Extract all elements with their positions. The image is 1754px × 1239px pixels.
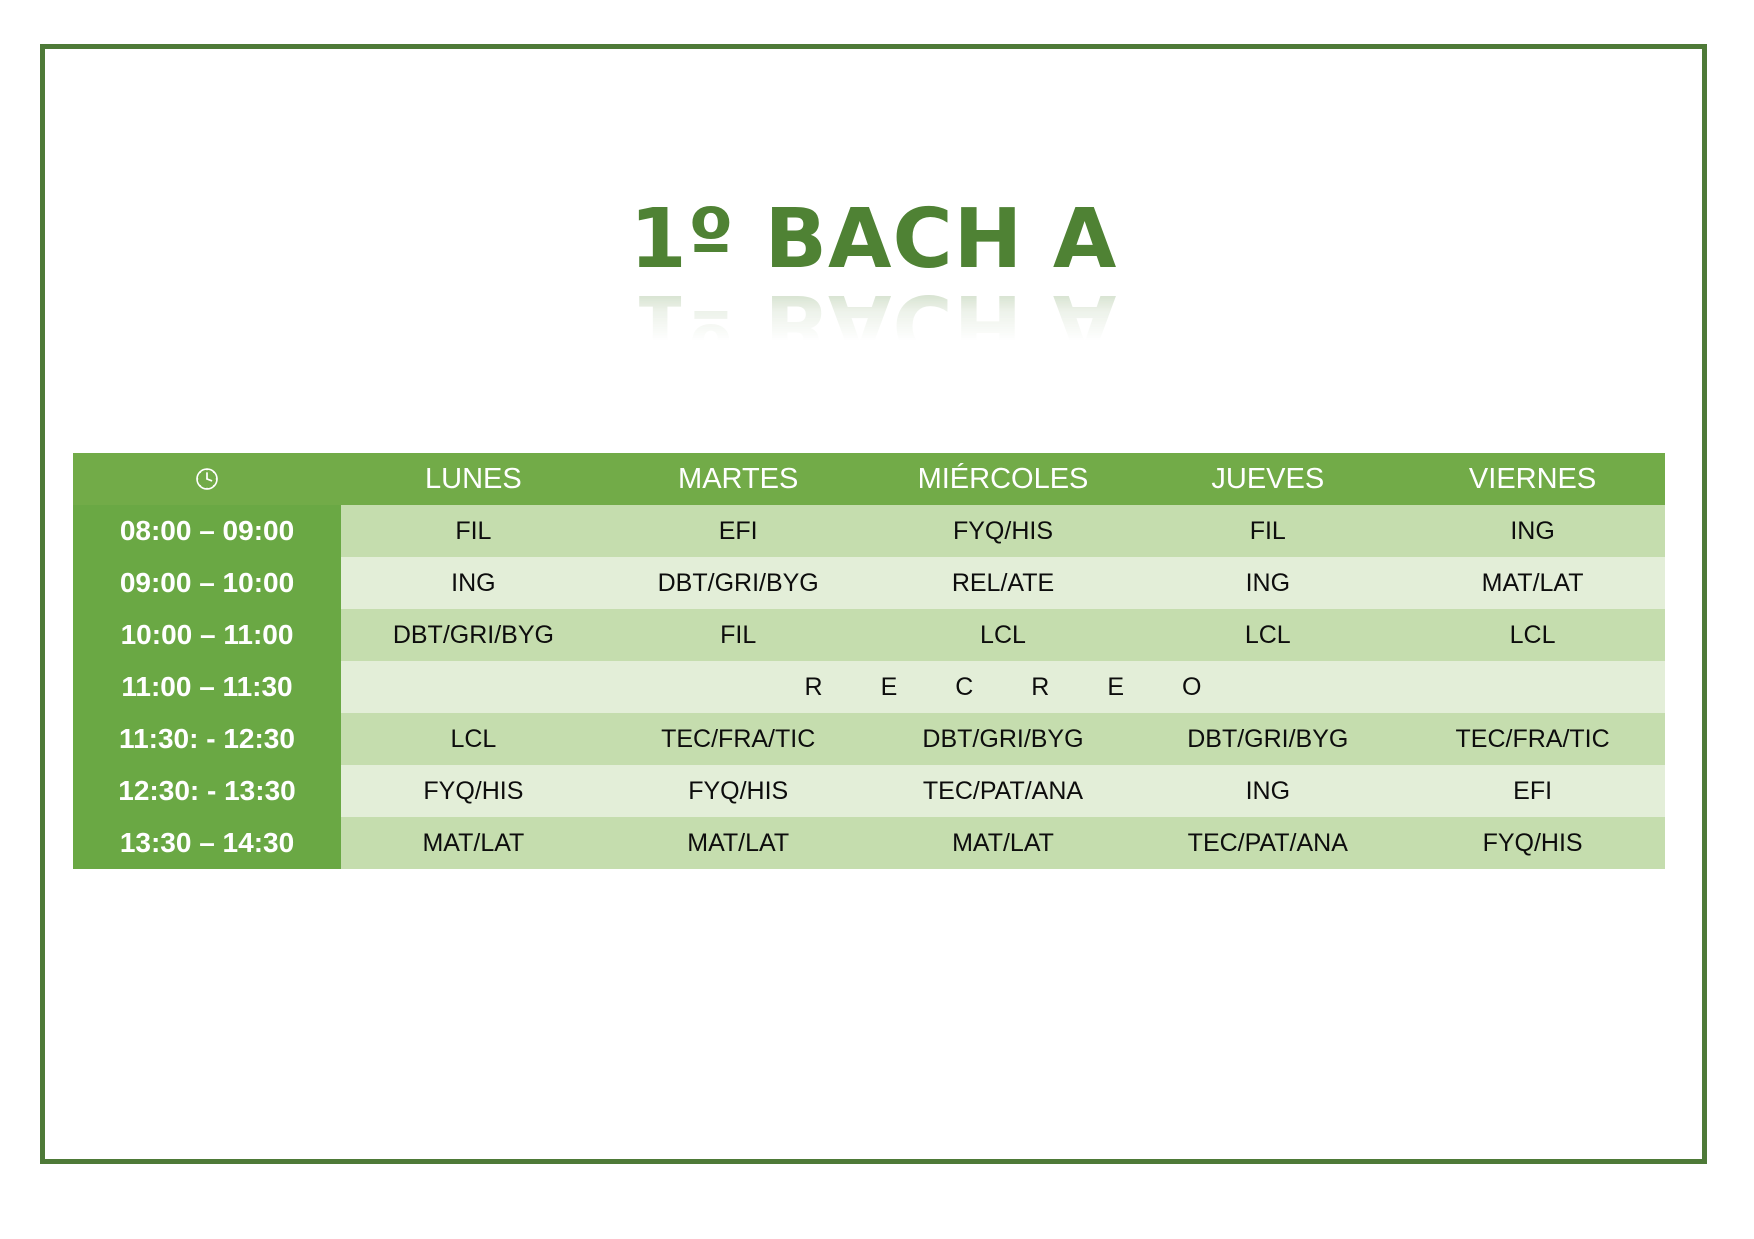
clock-icon [194, 466, 220, 492]
class-cell: TEC/PAT/ANA [871, 765, 1136, 817]
class-cell: FYQ/HIS [606, 765, 871, 817]
class-cell: LCL [871, 609, 1136, 661]
class-cell: LCL [1400, 609, 1665, 661]
class-cell: TEC/PAT/ANA [1135, 817, 1400, 869]
class-cell: TEC/FRA/TIC [1400, 713, 1665, 765]
timetable: LUNESMARTESMIÉRCOLESJUEVESVIERNES 08:00 … [73, 453, 1665, 869]
class-cell: LCL [1135, 609, 1400, 661]
timetable-row: 09:00 – 10:00INGDBT/GRI/BYGREL/ATEINGMAT… [73, 557, 1665, 609]
class-cell: ING [1400, 505, 1665, 557]
page-frame: 1º BACH A 1º BACH A LUNESMARTESMIÉRCOLES… [40, 44, 1707, 1164]
title-block: 1º BACH A 1º BACH A [45, 199, 1702, 369]
timetable-row: 13:30 – 14:30MAT/LATMAT/LATMAT/LATTEC/PA… [73, 817, 1665, 869]
page-title: 1º BACH A [45, 199, 1702, 281]
class-cell: ING [1135, 765, 1400, 817]
class-cell: ING [341, 557, 606, 609]
class-cell: FYQ/HIS [341, 765, 606, 817]
class-cell: LCL [341, 713, 606, 765]
page-title-reflection: 1º BACH A [45, 282, 1702, 364]
class-cell: DBT/GRI/BYG [871, 713, 1136, 765]
time-slot-label: 12:30: - 13:30 [73, 765, 341, 817]
class-cell: MAT/LAT [606, 817, 871, 869]
class-cell: FYQ/HIS [871, 505, 1136, 557]
day-header-jueves: JUEVES [1135, 453, 1400, 505]
time-slot-label: 13:30 – 14:30 [73, 817, 341, 869]
timetable-row: 08:00 – 09:00FILEFIFYQ/HISFILING [73, 505, 1665, 557]
class-cell: REL/ATE [871, 557, 1136, 609]
class-cell: TEC/FRA/TIC [606, 713, 871, 765]
class-cell: EFI [1400, 765, 1665, 817]
day-header-martes: MARTES [606, 453, 871, 505]
timetable-header: LUNESMARTESMIÉRCOLESJUEVESVIERNES [73, 453, 1665, 505]
class-cell: FIL [606, 609, 871, 661]
class-cell: FIL [1135, 505, 1400, 557]
time-slot-label: 11:00 – 11:30 [73, 661, 341, 713]
time-slot-label: 10:00 – 11:00 [73, 609, 341, 661]
timetable-body: 08:00 – 09:00FILEFIFYQ/HISFILING09:00 – … [73, 505, 1665, 869]
class-cell: FYQ/HIS [1400, 817, 1665, 869]
break-row-label: RECREO [341, 661, 1665, 713]
day-header-lunes: LUNES [341, 453, 606, 505]
day-header-miércoles: MIÉRCOLES [871, 453, 1136, 505]
class-cell: ING [1135, 557, 1400, 609]
day-header-viernes: VIERNES [1400, 453, 1665, 505]
class-cell: EFI [606, 505, 871, 557]
class-cell: DBT/GRI/BYG [606, 557, 871, 609]
time-column-header [73, 453, 341, 505]
timetable-container: LUNESMARTESMIÉRCOLESJUEVESVIERNES 08:00 … [73, 453, 1665, 869]
timetable-row: 11:30: - 12:30LCLTEC/FRA/TICDBT/GRI/BYGD… [73, 713, 1665, 765]
timetable-header-row: LUNESMARTESMIÉRCOLESJUEVESVIERNES [73, 453, 1665, 505]
timetable-row: 12:30: - 13:30FYQ/HISFYQ/HISTEC/PAT/ANAI… [73, 765, 1665, 817]
timetable-row: 11:00 – 11:30RECREO [73, 661, 1665, 713]
class-cell: MAT/LAT [871, 817, 1136, 869]
class-cell: DBT/GRI/BYG [341, 609, 606, 661]
class-cell: DBT/GRI/BYG [1135, 713, 1400, 765]
time-slot-label: 08:00 – 09:00 [73, 505, 341, 557]
class-cell: FIL [341, 505, 606, 557]
timetable-row: 10:00 – 11:00DBT/GRI/BYGFILLCLLCLLCL [73, 609, 1665, 661]
class-cell: MAT/LAT [341, 817, 606, 869]
time-slot-label: 09:00 – 10:00 [73, 557, 341, 609]
time-slot-label: 11:30: - 12:30 [73, 713, 341, 765]
class-cell: MAT/LAT [1400, 557, 1665, 609]
